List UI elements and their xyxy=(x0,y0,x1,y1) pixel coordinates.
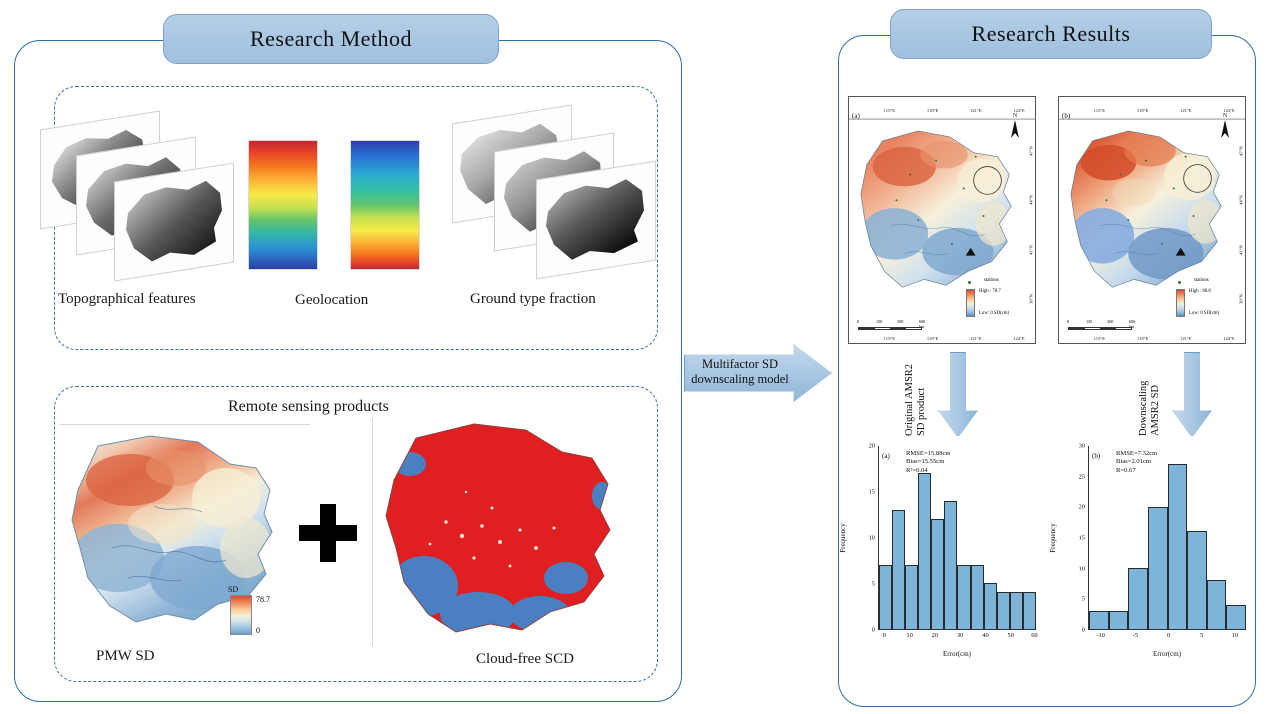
xtick: 30 xyxy=(957,632,963,639)
lon-tick: 121°E xyxy=(1180,108,1192,113)
histogram-bar xyxy=(1109,611,1129,629)
north-arrow-icon: N xyxy=(1218,110,1232,140)
cloud-free-scd-label: Cloud-free SCD xyxy=(476,651,574,668)
ytick: 5 xyxy=(872,581,875,588)
hist-b-ylabel: Frequency xyxy=(1049,523,1057,553)
plus-operator xyxy=(299,504,357,562)
histogram-bar xyxy=(944,501,957,629)
lon-tick: 115°E xyxy=(1094,336,1105,341)
sd-legend: SD 78.7 0 xyxy=(228,585,294,637)
scalebar-tick: 150 xyxy=(876,319,882,324)
lat-tick: 47°N xyxy=(1028,146,1033,156)
topo-layer-3 xyxy=(114,172,234,272)
map-a-lon-ticks-bottom: 115°E 118°E 121°E 124°E xyxy=(848,336,1036,346)
downscaling-model-arrow: Multifactor SD downscaling model xyxy=(684,344,832,402)
xtick: 0 xyxy=(1167,632,1170,639)
sd-legend-high: 78.7 xyxy=(256,595,270,604)
arrow-shape xyxy=(1172,352,1212,438)
lon-tick: 118°E xyxy=(1137,336,1148,341)
research-results-header: Research Results xyxy=(890,9,1212,59)
downscaling-model-text: Multifactor SD downscaling model xyxy=(684,357,796,387)
arrow-shape xyxy=(938,352,978,438)
histogram-bar xyxy=(997,592,1010,629)
plus-horizontal-bar xyxy=(299,525,357,541)
histogram-bar xyxy=(1023,592,1036,629)
map-b-legend: stations High : 88.8 Low: 0 SD(cm) xyxy=(1172,278,1244,320)
station-dot-icon xyxy=(1178,281,1181,284)
histogram-bar xyxy=(918,473,931,629)
lon-tick: 121°E xyxy=(1180,336,1192,341)
divider-horizontal xyxy=(60,424,310,425)
geolocation-colorbars xyxy=(248,140,426,272)
legend-high-label: High : 78.7 xyxy=(979,289,1001,294)
hist-a-xaxis: 0 10 20 30 40 50 60 xyxy=(878,632,1036,642)
model-text-line1: Multifactor SD xyxy=(684,357,796,372)
downscaling-product-arrow xyxy=(1172,352,1212,438)
histogram-bar xyxy=(1226,605,1246,629)
lon-tick: 124°E xyxy=(1013,336,1025,341)
map-a-scalebar: 0 150 300 600 km xyxy=(858,322,924,332)
histogram-bar xyxy=(892,510,905,629)
remote-sensing-products-title: Remote sensing products xyxy=(228,398,389,416)
scalebar-tick: 300 xyxy=(897,319,903,324)
sd-legend-low: 0 xyxy=(256,626,260,635)
lat-tick: 41°N xyxy=(1028,245,1033,255)
lon-tick: 115°E xyxy=(1094,108,1105,113)
ytick: 30 xyxy=(1079,443,1085,450)
error-histogram-b: 0 5 10 15 20 25 30 Frequency (b) RMSE=7.… xyxy=(1058,436,1254,664)
lat-tick: 41°N xyxy=(1238,245,1243,255)
lat-tick: 44°N xyxy=(1238,195,1243,205)
ytick: 0 xyxy=(872,627,875,634)
pmw-sd-label: PMW SD xyxy=(96,648,155,665)
histogram-bar xyxy=(1207,580,1227,629)
ytick: 25 xyxy=(1079,473,1085,480)
downscaling-product-arrow-label: Downscaling AMSR2 SD xyxy=(1138,381,1162,436)
xtick: 20 xyxy=(932,632,938,639)
ytick: 10 xyxy=(1079,565,1085,572)
ytick: 20 xyxy=(1079,504,1085,511)
legend-stations-label: stations xyxy=(1194,278,1209,283)
ytick: 15 xyxy=(1079,535,1085,542)
terrain-blob-icon xyxy=(120,172,226,271)
arrow-label-line1: Downscaling xyxy=(1138,381,1150,436)
histogram-bar xyxy=(1168,464,1188,629)
xtick: 50 xyxy=(1008,632,1014,639)
sd-legend-title: SD xyxy=(228,585,238,594)
xtick: -5 xyxy=(1133,632,1138,639)
topographical-features-stack xyxy=(40,112,236,282)
lon-tick: 115°E xyxy=(884,336,895,341)
topographical-features-label: Topographical features xyxy=(58,291,196,308)
map-b-scalebar: 0 150 300 600 km xyxy=(1068,322,1134,332)
arrow-label-line2: AMSR2 SD xyxy=(1150,381,1162,436)
layer-content xyxy=(114,162,234,281)
lon-tick: 115°E xyxy=(884,108,895,113)
ground-layer-3 xyxy=(536,170,656,270)
legend-high-label: High : 88.8 xyxy=(1189,289,1211,294)
histogram-bar xyxy=(1089,611,1109,629)
landcover-blob-icon xyxy=(542,170,648,269)
legend-stations-label: stations xyxy=(984,278,999,283)
legend-colorbar xyxy=(1176,289,1185,317)
map-a-legend: stations High : 78.7 Low: 0 SD(cm) xyxy=(962,278,1034,320)
ground-type-fraction-label: Ground type fraction xyxy=(470,291,596,308)
lat-tick: 47°N xyxy=(1238,146,1243,156)
xtick: 10 xyxy=(906,632,912,639)
cloud-free-scd-map xyxy=(370,418,630,644)
arrow-label-line1: Original AMSR2 xyxy=(904,364,916,436)
hist-b-xaxis: -10 -5 0 5 10 xyxy=(1088,632,1246,642)
lon-tick: 121°E xyxy=(970,336,982,341)
original-product-arrow-label: Original AMSR2 SD product xyxy=(904,364,928,436)
svg-text:N: N xyxy=(1013,113,1018,119)
scalebar-tick: 150 xyxy=(1086,319,1092,324)
xtick: 40 xyxy=(982,632,988,639)
sd-legend-colorbar xyxy=(230,595,252,635)
latitude-colorbar xyxy=(248,140,318,270)
legend-low-label: Low: 0 SD(cm) xyxy=(979,311,1009,316)
hist-a-xlabel: Error(cm) xyxy=(878,650,1036,658)
legend-low-label: Low: 0 SD(cm) xyxy=(1189,311,1219,316)
xtick: 0 xyxy=(883,632,886,639)
xtick: -10 xyxy=(1096,632,1105,639)
ytick: 15 xyxy=(869,489,875,496)
hist-b-yaxis: 0 5 10 15 20 25 30 Frequency xyxy=(1058,446,1088,630)
xtick: 10 xyxy=(1232,632,1238,639)
scalebar-tick: 0 xyxy=(1067,319,1069,324)
histogram-bar xyxy=(1187,531,1207,629)
xtick: 5 xyxy=(1200,632,1203,639)
research-method-header: Research Method xyxy=(163,14,499,64)
lat-tick: 44°N xyxy=(1028,195,1033,205)
hist-b-bars xyxy=(1089,446,1246,629)
scalebar-tick: 300 xyxy=(1107,319,1113,324)
hist-a-ylabel: Frequency xyxy=(839,523,847,553)
hist-a-plot-area xyxy=(878,446,1036,630)
histogram-bar xyxy=(1128,568,1148,629)
histogram-bar xyxy=(879,565,892,629)
geolocation-label: Geolocation xyxy=(295,292,368,309)
scalebar-bar xyxy=(1068,327,1132,330)
ytick: 0 xyxy=(1082,627,1085,634)
histogram-bar xyxy=(957,565,970,629)
hist-a-yaxis: 0 5 10 15 20 Frequency xyxy=(848,446,878,630)
lon-tick: 118°E xyxy=(1137,108,1148,113)
histogram-bar xyxy=(971,565,984,629)
ytick: 20 xyxy=(869,443,875,450)
ytick: 5 xyxy=(1082,596,1085,603)
ground-type-fraction-stack xyxy=(452,108,660,288)
svg-text:N: N xyxy=(1223,113,1228,119)
arrow-label-line2: SD product xyxy=(916,364,928,436)
original-product-arrow xyxy=(938,352,978,438)
histogram-bar xyxy=(931,519,944,629)
scalebar-tick: 0 xyxy=(857,319,859,324)
legend-colorbar xyxy=(966,289,975,317)
north-arrow-icon: N xyxy=(1008,110,1022,140)
scalebar-bar xyxy=(858,327,922,330)
histogram-bar xyxy=(984,583,997,629)
hist-b-plot-area xyxy=(1088,446,1246,630)
longitude-colorbar xyxy=(350,140,420,270)
lon-tick: 118°E xyxy=(927,108,938,113)
hist-a-bars xyxy=(879,446,1036,629)
histogram-bar xyxy=(1010,592,1023,629)
ytick: 10 xyxy=(869,535,875,542)
map-b-lon-ticks-bottom: 115°E 118°E 121°E 124°E xyxy=(1058,336,1246,346)
lon-tick: 118°E xyxy=(927,336,938,341)
model-text-line2: downscaling model xyxy=(684,372,796,387)
hist-b-xlabel: Error(cm) xyxy=(1088,650,1246,658)
layer-content xyxy=(536,160,656,279)
lon-tick: 121°E xyxy=(970,108,982,113)
histogram-bar xyxy=(905,565,918,629)
station-dot-icon xyxy=(968,281,971,284)
histogram-bar xyxy=(1148,507,1168,629)
xtick: 60 xyxy=(1031,632,1037,639)
lon-tick: 124°E xyxy=(1223,336,1235,341)
error-histogram-a: 0 5 10 15 20 Frequency (a) RMSE=15.88cm … xyxy=(848,436,1044,664)
